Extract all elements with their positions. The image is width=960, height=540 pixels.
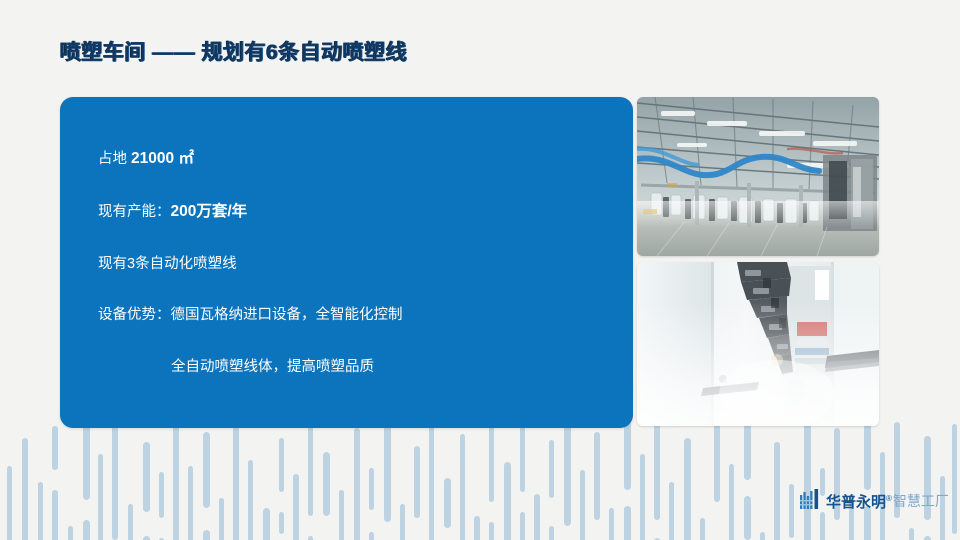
decorative-bar <box>474 516 480 540</box>
decorative-bar <box>112 420 118 540</box>
info-line-text: 现有3条自动化喷塑线 <box>98 256 237 272</box>
info-line-text: 占地 <box>98 151 131 167</box>
info-line: 现有3条自动化喷塑线 <box>98 255 613 275</box>
decorative-bar <box>760 532 765 540</box>
logo-brand-label: 华普永明 <box>826 494 886 511</box>
decorative-bar <box>83 520 90 540</box>
decorative-bar <box>188 466 193 540</box>
factory-bars-icon-svg <box>800 489 821 509</box>
decorative-bar <box>820 512 825 540</box>
decorative-bar <box>323 452 330 516</box>
decorative-bar <box>369 468 374 510</box>
decorative-bar <box>924 536 931 540</box>
decorative-bar <box>700 518 705 540</box>
decorative-bar <box>714 424 720 502</box>
decorative-bar <box>669 482 674 540</box>
decorative-bar <box>654 416 660 520</box>
decorative-bar <box>640 454 645 540</box>
decorative-bar <box>504 462 511 540</box>
decorative-bar <box>22 438 28 540</box>
decorative-bar <box>203 432 210 508</box>
presentation-slide: 喷塑车间 —— 规划有6条自动喷塑线 占地 21000 ㎡现有产能：200万套/… <box>0 0 960 540</box>
decorative-bar <box>444 478 451 528</box>
booth-photo-graphic <box>637 262 879 426</box>
info-line: 设备优势：德国瓦格纳进口设备，全智能化控制 <box>98 306 613 326</box>
logo-sub-text: 智慧工厂 <box>893 491 949 511</box>
decorative-bar <box>594 432 600 520</box>
decorative-bar <box>549 440 554 498</box>
info-line-list: 占地 21000 ㎡现有产能：200万套/年现有3条自动化喷塑线设备优势：德国瓦… <box>98 149 613 378</box>
decorative-bar <box>233 422 239 540</box>
decorative-bar <box>549 526 554 540</box>
decorative-bar <box>624 420 631 490</box>
decorative-bar <box>7 466 12 540</box>
title-row: 喷塑车间 —— 规划有6条自动喷塑线 <box>60 34 407 68</box>
info-panel: 占地 21000 ㎡现有产能：200万套/年现有3条自动化喷塑线设备优势：德国瓦… <box>60 97 633 428</box>
decorative-bar <box>414 446 420 518</box>
logo-brand-text: 华普永明® <box>826 491 892 512</box>
decorative-bar <box>804 418 811 540</box>
decorative-bar <box>489 416 494 502</box>
decorative-bar <box>789 484 794 538</box>
decorative-bar <box>159 472 164 518</box>
decorative-bar <box>429 422 434 540</box>
decorative-bar <box>279 512 284 534</box>
info-line-text: 全自动喷塑线体，提高喷塑品质 <box>171 359 374 375</box>
decorative-bar <box>774 442 780 540</box>
factory-bars-icon <box>800 489 821 514</box>
decorative-bar <box>68 526 73 540</box>
decorative-bar <box>52 490 58 540</box>
decorative-bar <box>38 482 43 540</box>
decorative-bar <box>173 416 179 540</box>
decorative-bar <box>729 464 734 540</box>
photo-workshop <box>637 97 879 256</box>
decorative-bar <box>339 490 344 540</box>
decorative-bar <box>279 438 284 492</box>
decorative-bar <box>354 428 360 540</box>
info-line-text: 设备优势：德国瓦格纳进口设备，全智能化控制 <box>98 307 403 323</box>
page-title: 喷塑车间 —— 规划有6条自动喷塑线 <box>60 36 407 66</box>
decorative-bar <box>489 522 494 540</box>
decorative-bar <box>534 494 540 540</box>
decorative-bar <box>580 470 585 540</box>
decorative-bar <box>564 414 571 526</box>
decorative-bar <box>143 442 150 512</box>
decorative-bar <box>460 434 465 540</box>
decorative-bar <box>219 498 224 540</box>
info-line-text: 现有产能： <box>98 204 171 220</box>
company-logo: 华普永明® 智慧工厂 <box>800 489 949 513</box>
decorative-bar <box>263 508 270 540</box>
decorative-bar <box>293 474 299 540</box>
decorative-bar <box>684 438 691 540</box>
info-line: 全自动喷塑线体，提高喷塑品质 <box>98 358 613 378</box>
decorative-bar <box>203 530 210 540</box>
decorative-bar <box>308 536 313 540</box>
decorative-bar <box>384 414 391 522</box>
decorative-bar <box>400 504 405 540</box>
decorative-bar <box>248 460 253 540</box>
decorative-bar <box>52 426 58 470</box>
decorative-bar <box>864 416 871 490</box>
photo-booth <box>637 262 879 426</box>
decorative-bar <box>909 528 914 540</box>
decorative-bar <box>520 426 525 492</box>
decorative-bar <box>308 418 313 516</box>
logo-trademark: ® <box>886 494 892 503</box>
decorative-bar <box>369 532 374 540</box>
decorative-bar <box>624 506 631 540</box>
decorative-bar <box>952 424 957 534</box>
decorative-bar <box>520 512 525 540</box>
info-line: 现有产能：200万套/年 <box>98 202 613 223</box>
info-line-emphasis: 21000 ㎡ <box>131 150 194 167</box>
decorative-bar <box>143 536 150 540</box>
decorative-bar <box>98 454 103 540</box>
decorative-bar <box>609 508 614 540</box>
workshop-photo-graphic <box>637 97 879 256</box>
info-line: 占地 21000 ㎡ <box>98 149 613 170</box>
decorative-bar <box>744 496 751 540</box>
decorative-bar <box>128 504 133 540</box>
info-line-emphasis: 200万套/年 <box>171 203 248 220</box>
